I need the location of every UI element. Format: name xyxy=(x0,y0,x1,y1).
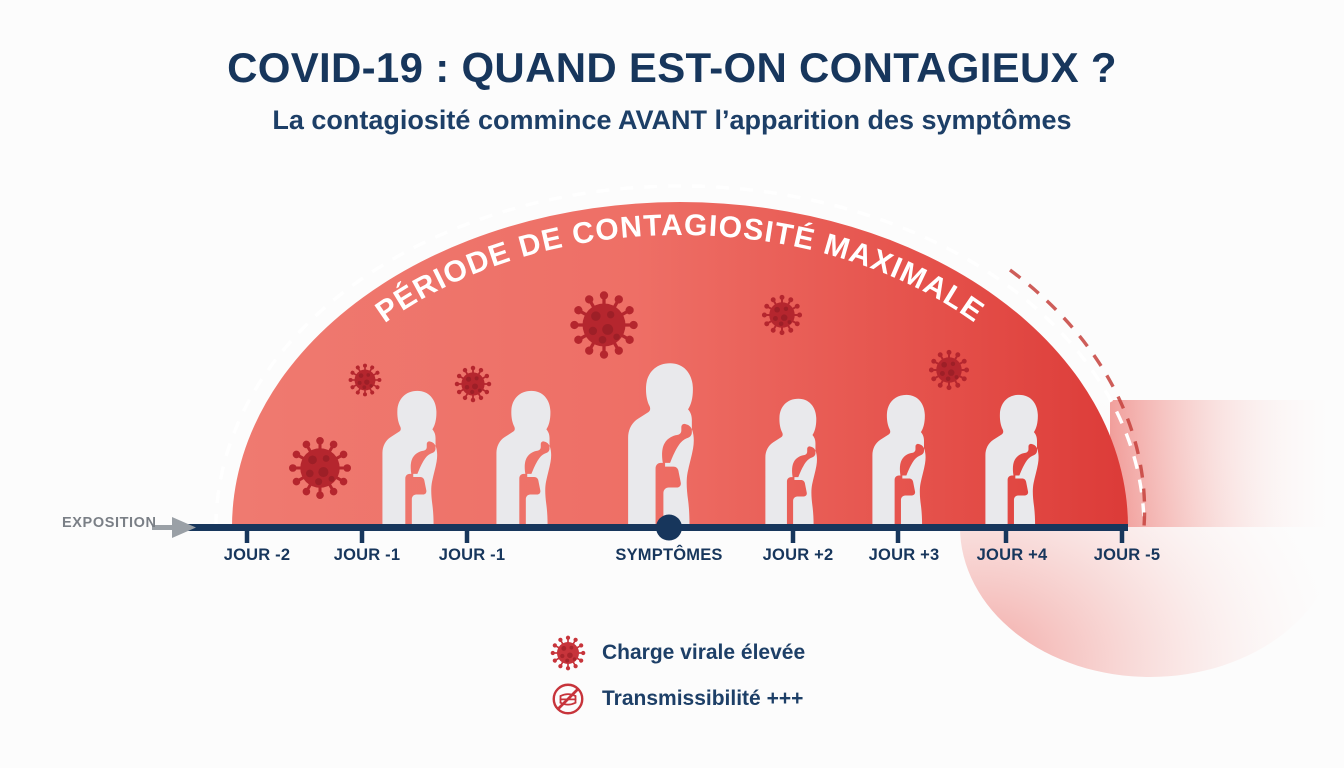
axis-label-jour-plus-3: JOUR +3 xyxy=(869,546,940,565)
legend-item-transmissibility: Transmissibilité +++ xyxy=(548,676,805,722)
legend-label-viral-load: Charge virale élevée xyxy=(602,641,805,665)
axis-label-jour-minus-1b: JOUR -1 xyxy=(439,546,506,565)
axis-label-jour-minus-1a: JOUR -1 xyxy=(334,546,401,565)
axis-label-symptomes: SYMPTÔMES xyxy=(615,546,722,565)
no-transmission-icon xyxy=(548,679,588,719)
axis-label-jour-minus-5: JOUR -5 xyxy=(1094,546,1161,565)
virus-icon xyxy=(548,633,588,673)
legend-item-viral-load: Charge virale élevée xyxy=(548,630,805,676)
exposition-label: EXPOSITION xyxy=(62,515,157,531)
legend-label-transmissibility: Transmissibilité +++ xyxy=(602,687,803,711)
symptom-onset-marker xyxy=(656,515,682,541)
legend: Charge virale élevée xyxy=(548,630,805,722)
axis-label-jour-plus-4: JOUR +4 xyxy=(977,546,1048,565)
infographic-root: COVID-19 : QUAND EST-ON CONTAGIEUX ? La … xyxy=(0,0,1344,768)
axis-label-jour-minus-2: JOUR -2 xyxy=(224,546,291,565)
axis-label-jour-plus-2: JOUR +2 xyxy=(763,546,834,565)
